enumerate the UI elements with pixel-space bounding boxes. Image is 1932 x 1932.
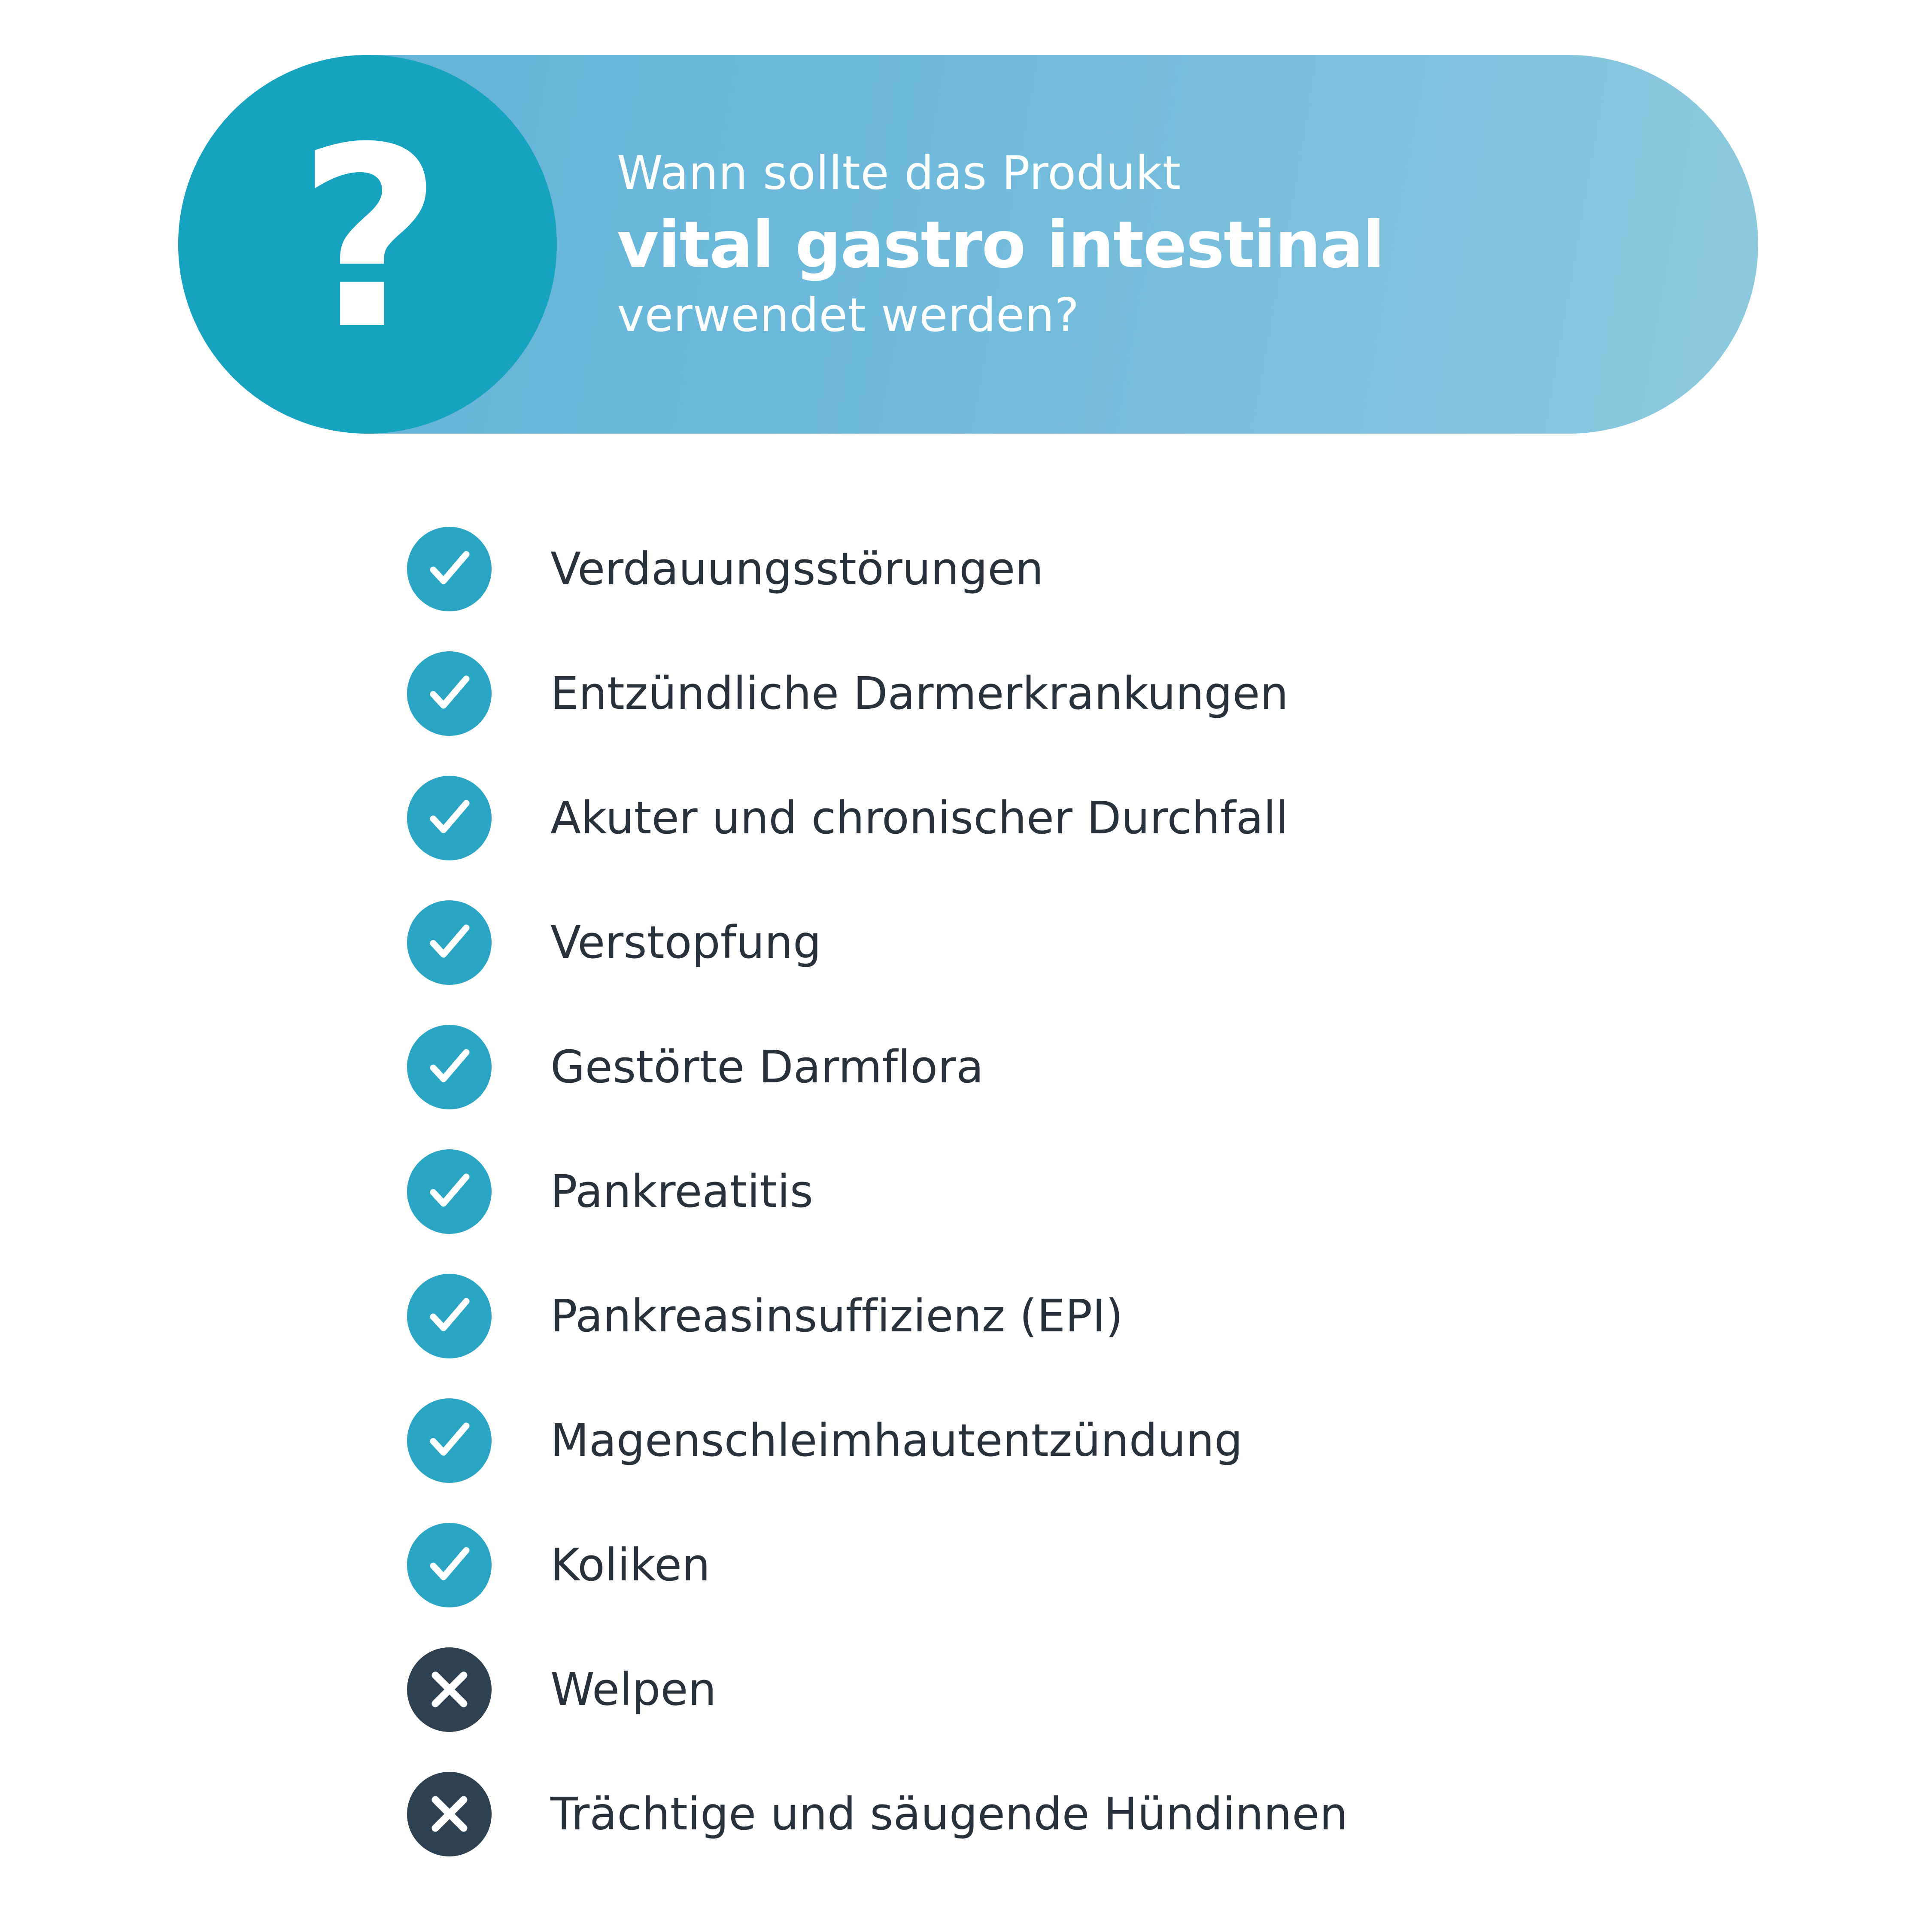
header-text-block: Wann sollte das Produkt vital gastro int… xyxy=(617,55,1883,434)
infographic-page: ? Wann sollte das Produkt vital gastro i… xyxy=(0,0,1932,1932)
list-item: Verstopfung xyxy=(0,880,1932,1005)
header-banner: ? Wann sollte das Produkt vital gastro i… xyxy=(178,55,1758,434)
list-item: Pankreatitis xyxy=(0,1129,1932,1254)
list-item: Entzündliche Darmerkrankungen xyxy=(0,631,1932,756)
header-subtitle-bottom: verwendet werden? xyxy=(617,287,1883,344)
check-icon xyxy=(407,1025,492,1109)
list-item-label: Verstopfung xyxy=(550,918,821,967)
list-item: Verdauungsstörungen xyxy=(0,507,1932,631)
question-badge: ? xyxy=(178,55,557,434)
list-item: Magenschleimhautentzündung xyxy=(0,1378,1932,1503)
list-item: Koliken xyxy=(0,1503,1932,1627)
check-icon xyxy=(407,651,492,736)
header-subtitle-top: Wann sollte das Produkt xyxy=(617,145,1883,202)
product-title: vital gastro intestinal xyxy=(617,206,1883,285)
list-item-label: Trächtige und säugende Hündinnen xyxy=(550,1789,1348,1838)
list-item-label: Pankreasinsuffizienz (EPI) xyxy=(550,1291,1123,1340)
list-item-label: Verdauungsstörungen xyxy=(550,544,1044,593)
list-item-label: Magenschleimhautentzündung xyxy=(550,1416,1242,1465)
list-item: Trächtige und säugende Hündinnen xyxy=(0,1752,1932,1876)
list-item-label: Pankreatitis xyxy=(550,1167,813,1216)
question-mark-icon: ? xyxy=(298,115,437,364)
list-item-label: Koliken xyxy=(550,1540,710,1589)
list-item: Welpen xyxy=(0,1627,1932,1752)
list-item-label: Gestörte Darmflora xyxy=(550,1042,984,1091)
list-item: Gestörte Darmflora xyxy=(0,1005,1932,1129)
check-icon xyxy=(407,1149,492,1234)
check-icon xyxy=(407,900,492,985)
check-icon xyxy=(407,527,492,611)
list-item: Pankreasinsuffizienz (EPI) xyxy=(0,1254,1932,1378)
check-icon xyxy=(407,1274,492,1358)
list-item-label: Welpen xyxy=(550,1665,717,1714)
list-item-label: Entzündliche Darmerkrankungen xyxy=(550,669,1288,718)
cross-icon xyxy=(407,1647,492,1732)
list-item: Akuter und chronischer Durchfall xyxy=(0,756,1932,880)
check-icon xyxy=(407,1398,492,1483)
list-item-label: Akuter und chronischer Durchfall xyxy=(550,793,1288,842)
check-icon xyxy=(407,1523,492,1607)
criteria-list: VerdauungsstörungenEntzündliche Darmerkr… xyxy=(0,507,1932,1876)
check-icon xyxy=(407,776,492,860)
cross-icon xyxy=(407,1772,492,1856)
